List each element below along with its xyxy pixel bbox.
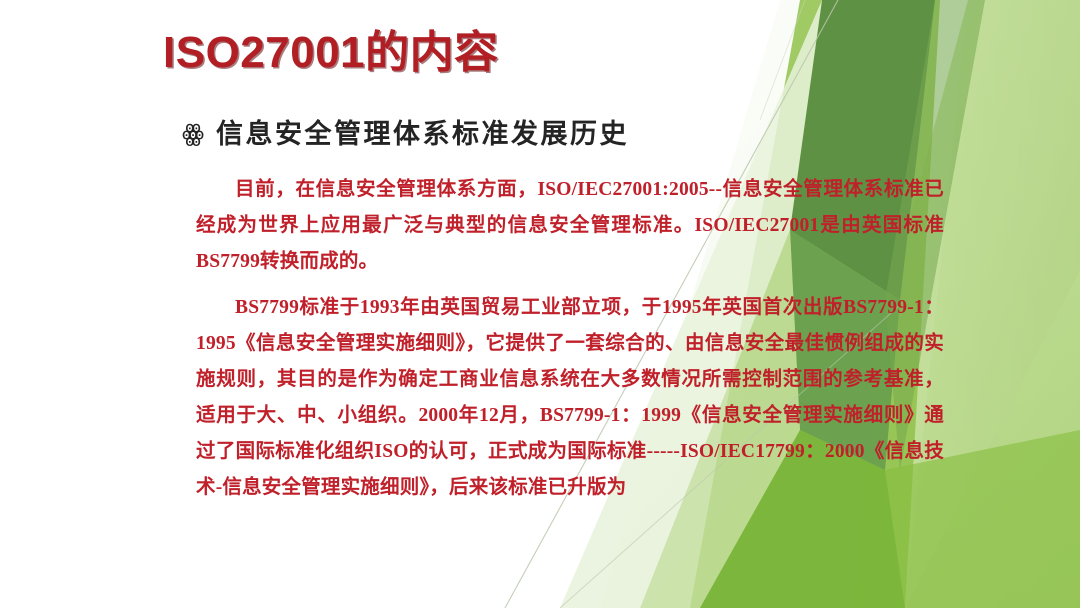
- decorative-loop-bullet-icon: ꙮ: [182, 121, 216, 147]
- body-text-block: 目前，在信息安全管理体系方面，ISO/IEC27001:2005--信息安全管理…: [196, 172, 944, 512]
- body-paragraph: 目前，在信息安全管理体系方面，ISO/IEC27001:2005--信息安全管理…: [196, 172, 944, 280]
- section-heading-label: 信息安全管理体系标准发展历史: [216, 112, 629, 151]
- page-title: ISO27001的内容: [163, 16, 499, 80]
- slide-content: ISO27001的内容 ꙮ 信息安全管理体系标准发展历史 目前，在信息安全管理体…: [0, 0, 1080, 608]
- body-paragraph: BS7799标准于1993年由英国贸易工业部立项，于1995年英国首次出版BS7…: [196, 290, 944, 506]
- presentation-slide: ISO27001的内容 ꙮ 信息安全管理体系标准发展历史 目前，在信息安全管理体…: [0, 0, 1080, 608]
- section-heading: ꙮ 信息安全管理体系标准发展历史: [182, 112, 629, 151]
